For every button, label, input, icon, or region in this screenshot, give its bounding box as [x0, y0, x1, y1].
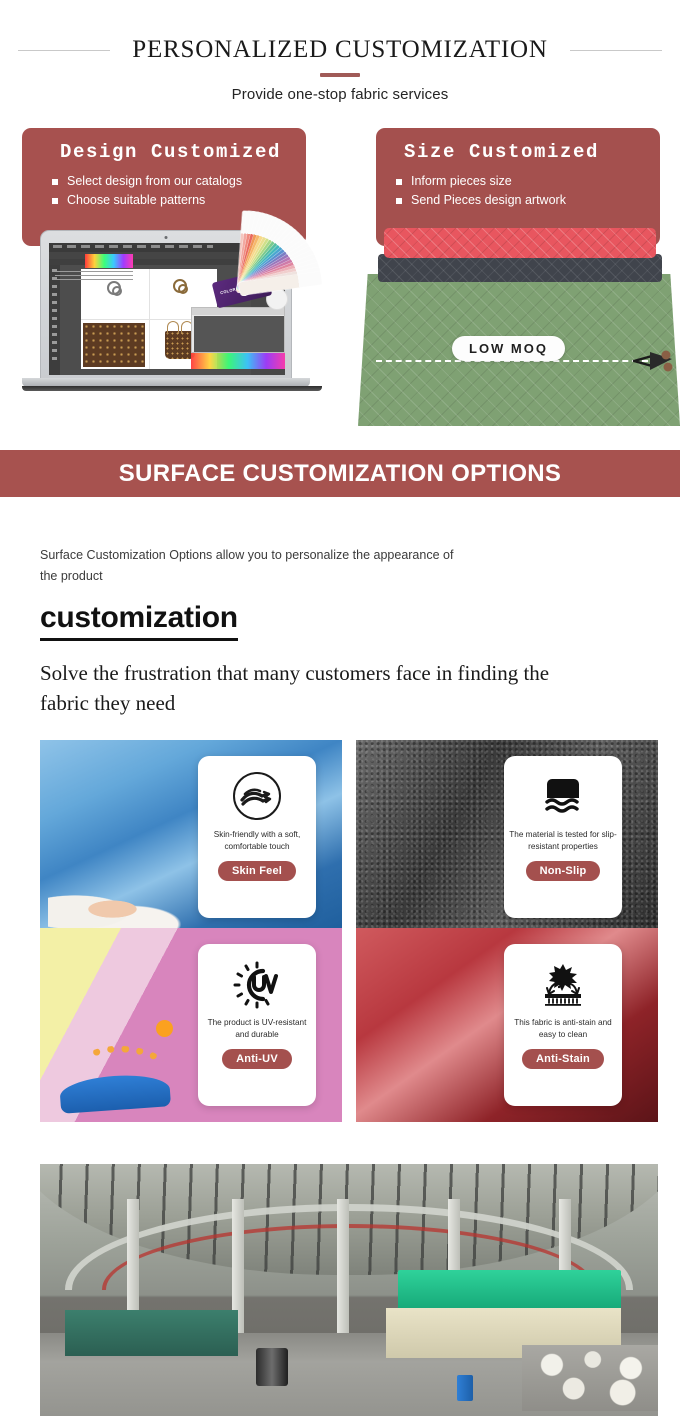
page-title: PERSONALIZED CUSTOMIZATION [132, 36, 547, 64]
factory-blue-barrel [457, 1375, 473, 1401]
square-bullet-icon [396, 198, 402, 204]
list-item: Send Pieces design artwork [396, 191, 660, 210]
color-spectrum-bar [191, 353, 285, 369]
red-quilted-fabric [384, 228, 656, 258]
color-panel-header [192, 308, 284, 315]
factory-interior-photo [40, 1164, 658, 1416]
textured-block-waves-icon [537, 770, 589, 822]
factory-machinery [65, 1310, 238, 1355]
feature-card-skin-feel[interactable]: Skin-friendly with a soft, comfortable t… [40, 740, 342, 934]
size-card-title: Size Customized [404, 141, 660, 163]
list-item: Inform pieces size [396, 172, 660, 191]
product-detail-page: PERSONALIZED CUSTOMIZATION Provide one-s… [0, 0, 680, 1416]
square-bullet-icon [52, 179, 58, 185]
software-color-panel [191, 307, 285, 353]
laptop-foot-shadow [22, 386, 322, 391]
quilted-fabric-stack-image: LOW MOQ [358, 226, 680, 426]
header-divider-right [570, 50, 662, 51]
feature-description: The material is tested for slip-resistan… [509, 829, 617, 852]
factory-column [337, 1199, 349, 1350]
banner-title: SURFACE CUSTOMIZATION OPTIONS [119, 460, 562, 488]
square-bullet-icon [52, 198, 58, 204]
page-header: PERSONALIZED CUSTOMIZATION Provide one-s… [0, 0, 680, 118]
header-title-row: PERSONALIZED CUSTOMIZATION [0, 32, 680, 68]
feature-info-panel: Skin-friendly with a soft, comfortable t… [198, 756, 316, 918]
square-bullet-icon [396, 179, 402, 185]
dark-gray-quilted-fabric [378, 254, 662, 282]
list-item: Select design from our catalogs [52, 172, 306, 191]
intro-text-block: Surface Customization Options allow you … [40, 545, 640, 718]
feature-badge: Non-Slip [526, 861, 601, 881]
feature-badge: Anti-UV [222, 1049, 292, 1069]
pantone-color-fan-deck: COLOR GUIDE [186, 196, 346, 308]
low-moq-badge: LOW MOQ [452, 336, 565, 361]
bullet-label: Inform pieces size [411, 172, 512, 191]
sun-uv-icon [231, 958, 283, 1010]
brand-logo-icon [107, 281, 121, 295]
soft-waves-circle-icon [231, 770, 283, 822]
feature-card-anti-stain[interactable]: This fabric is anti-stain and easy to cl… [356, 928, 658, 1122]
color-panel-body [194, 316, 284, 352]
factory-fabric-rolls [522, 1345, 658, 1411]
feature-info-panel: The product is UV-resistant and durable … [198, 944, 316, 1106]
feature-info-panel: This fabric is anti-stain and easy to cl… [504, 944, 622, 1106]
surface-options-banner: SURFACE CUSTOMIZATION OPTIONS [0, 450, 680, 497]
intro-description: Surface Customization Options allow you … [40, 545, 460, 587]
stain-splash-repel-icon [537, 958, 589, 1010]
color-panel-rows [55, 271, 133, 283]
feature-description: This fabric is anti-stain and easy to cl… [509, 1017, 617, 1040]
factory-fabric-drum [256, 1348, 288, 1386]
feature-badge: Skin Feel [218, 861, 296, 881]
laptop-camera-icon [165, 236, 168, 239]
intro-headline: customization [40, 601, 238, 641]
bullet-label: Choose suitable patterns [67, 191, 205, 210]
header-accent-bar [320, 73, 360, 77]
brand-logo-gold-icon [173, 279, 187, 293]
color-gradient-strip [85, 254, 133, 268]
customization-cards-section: Design Customized Select design from our… [0, 128, 680, 428]
header-divider-left [18, 50, 110, 51]
sun-dot-icon [156, 1020, 173, 1037]
design-card-title: Design Customized [60, 141, 306, 163]
sleeping-baby-image [48, 888, 152, 932]
factory-green-machine [398, 1270, 620, 1310]
feature-description: Skin-friendly with a soft, comfortable t… [203, 829, 311, 852]
intro-serif-statement: Solve the frustration that many customer… [40, 658, 560, 718]
bullet-label: Select design from our catalogs [67, 172, 242, 191]
feature-badge: Anti-Stain [522, 1049, 604, 1069]
scissors-icon [632, 348, 676, 374]
monogram-pattern-swatch [83, 323, 145, 367]
header-subtitle: Provide one-stop fabric services [0, 86, 680, 103]
feature-description: The product is UV-resistant and durable [203, 1017, 311, 1040]
feature-card-anti-uv[interactable]: The product is UV-resistant and durable … [40, 928, 342, 1122]
feature-cards-grid: Skin-friendly with a soft, comfortable t… [40, 740, 658, 1148]
feature-info-panel: The material is tested for slip-resistan… [504, 756, 622, 918]
bullet-label: Send Pieces design artwork [411, 191, 566, 210]
feature-card-non-slip[interactable]: The material is tested for slip-resistan… [356, 740, 658, 934]
size-card-bullet-list: Inform pieces size Send Pieces design ar… [396, 172, 660, 210]
software-tool-icons [52, 269, 57, 365]
